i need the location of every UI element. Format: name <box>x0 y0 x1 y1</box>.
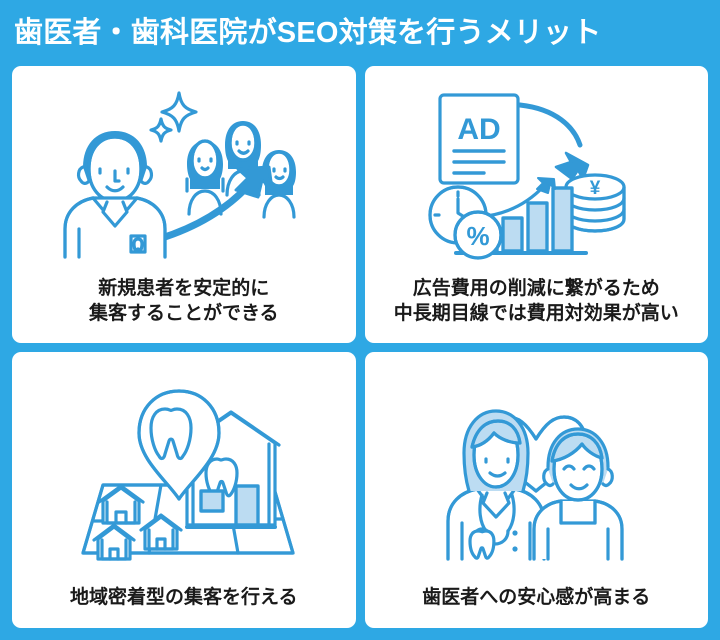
coin-stack-yen-icon: ¥ <box>566 175 624 231</box>
illustration-dentist-with-patients <box>12 66 356 276</box>
benefit-card-new-patients[interactable]: 新規患者を安定的に 集客することができる <box>12 66 356 343</box>
page-header: 歯医者・歯科医院がSEO対策を行うメリット <box>12 0 708 66</box>
dentist-figure <box>65 131 165 257</box>
ad-cost-icon: AD ¥ <box>416 87 656 262</box>
percent-symbol: % <box>467 221 490 251</box>
illustration-local-map <box>12 352 356 585</box>
benefit-caption: 広告費用の削減に繋がるため 中長期目線では費用対効果が高い <box>386 276 687 342</box>
benefit-caption: 地域密着型の集客を行える <box>62 585 305 628</box>
percent-badge-icon: % <box>455 212 501 258</box>
illustration-dentist-patient-heart <box>365 352 709 585</box>
map-clinic-icon <box>61 381 306 561</box>
benefits-grid: 新規患者を安定的に 集客することができる AD <box>12 66 708 628</box>
ad-document-label: AD <box>458 113 501 146</box>
benefit-card-patient-trust[interactable]: 歯医者への安心感が高まる <box>365 352 709 629</box>
trust-icon <box>416 381 656 561</box>
page-title: 歯医者・歯科医院がSEO対策を行うメリット <box>14 19 601 48</box>
yen-symbol: ¥ <box>590 178 601 199</box>
page-root: 歯医者・歯科医院がSEO対策を行うメリット <box>0 0 720 640</box>
benefit-card-ad-cost-reduction[interactable]: AD ¥ <box>365 66 709 343</box>
benefit-card-local-marketing[interactable]: 地域密着型の集客を行える <box>12 352 356 629</box>
ad-document-icon: AD <box>440 95 518 183</box>
illustration-ad-cost: AD ¥ <box>365 66 709 276</box>
dentist-growth-icon <box>59 89 309 259</box>
curved-arrow-icon <box>520 105 588 179</box>
benefit-caption: 新規患者を安定的に 集客することができる <box>81 276 287 342</box>
sparkle-icon <box>151 93 196 141</box>
benefit-caption: 歯医者への安心感が高まる <box>414 585 658 628</box>
